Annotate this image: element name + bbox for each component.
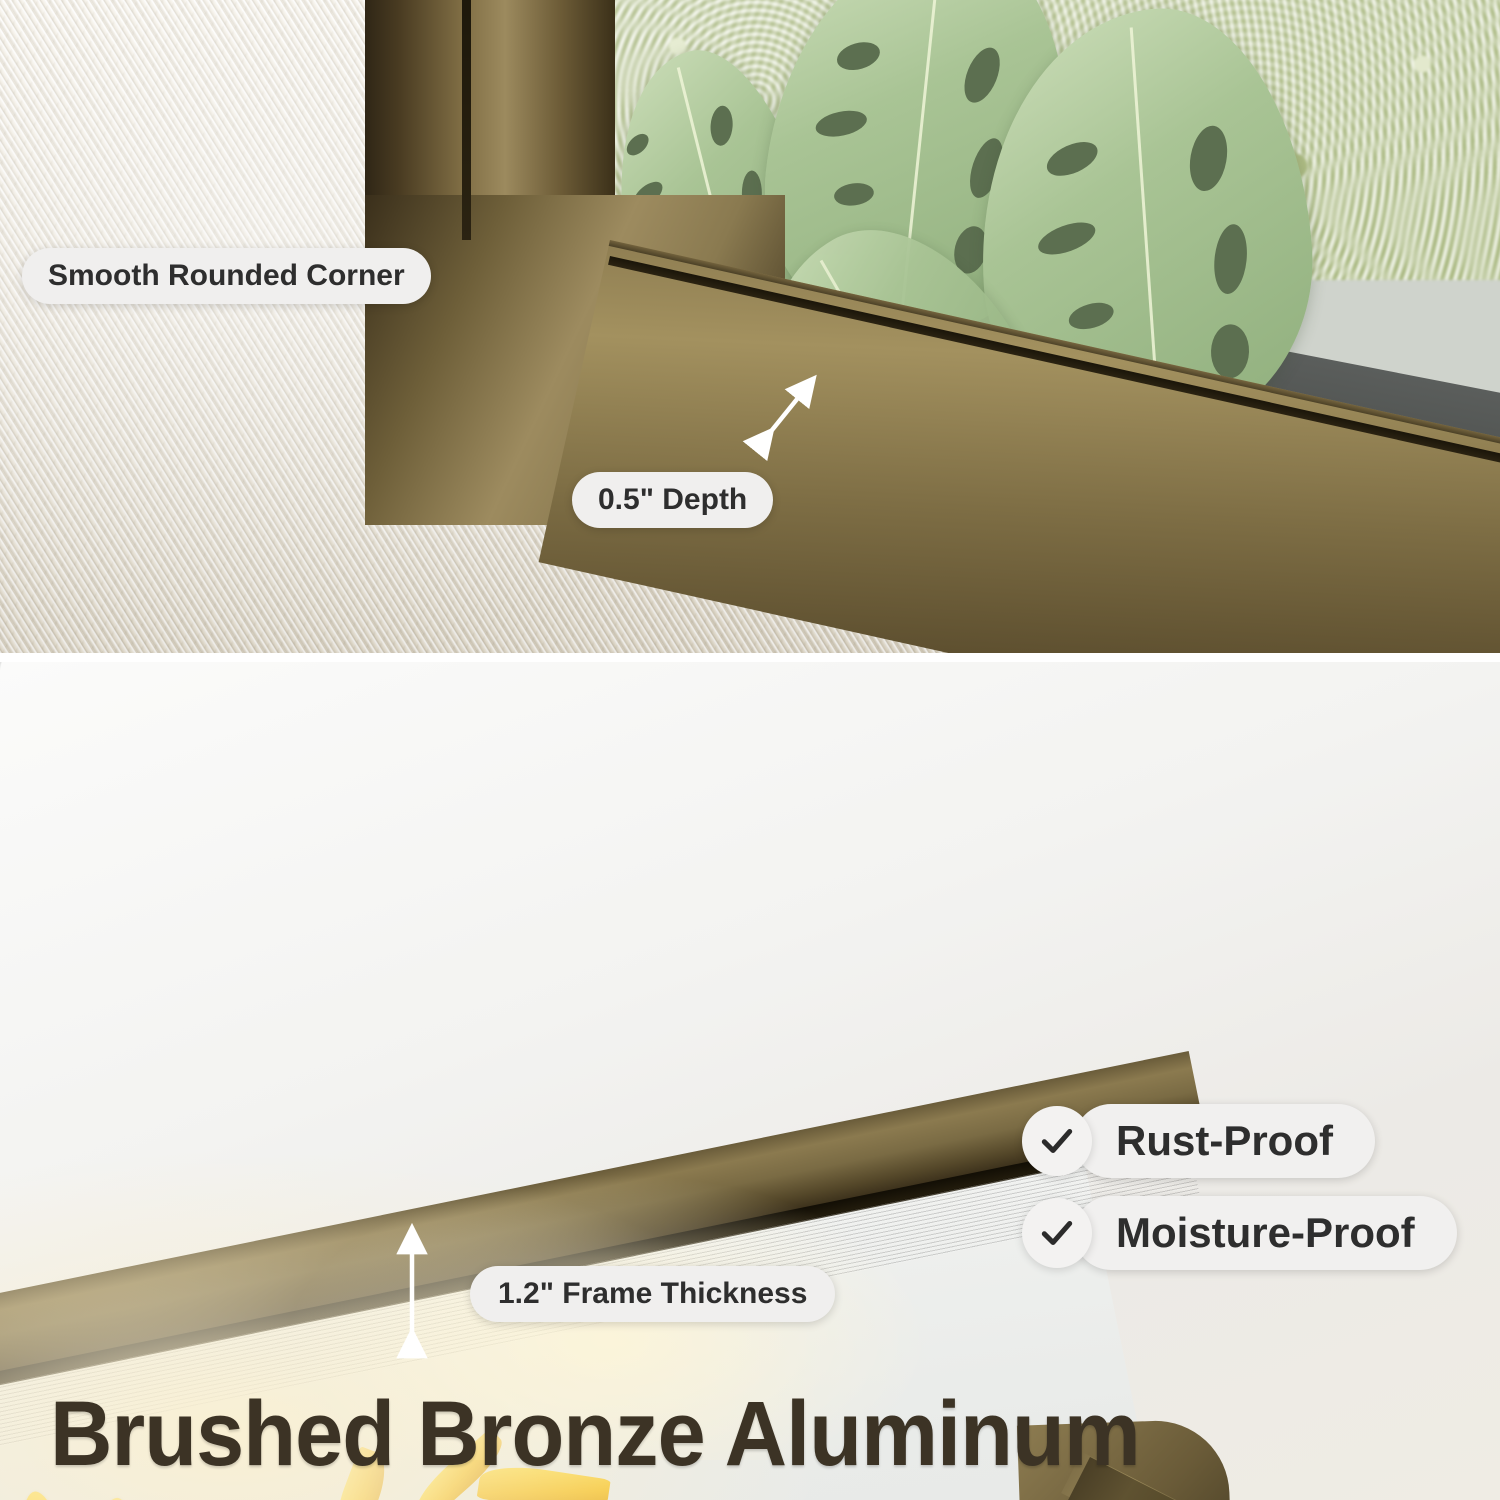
moisture-proof-label: Moisture-Proof bbox=[1116, 1209, 1415, 1257]
thickness-arrow bbox=[392, 1228, 432, 1358]
rust-proof-label: Rust-Proof bbox=[1116, 1117, 1333, 1165]
frame-horizontal-arm bbox=[539, 240, 1500, 653]
bottom-detail-panel bbox=[0, 662, 1500, 1500]
product-detail-image: Smooth Rounded Corner 0.5" Depth bbox=[0, 0, 1500, 1500]
panel-divider bbox=[0, 653, 1500, 662]
rust-proof-feature[interactable]: Rust-Proof bbox=[1022, 1104, 1375, 1178]
corner-callout-pill[interactable]: Smooth Rounded Corner bbox=[22, 248, 431, 304]
moisture-proof-pill[interactable]: Moisture-Proof bbox=[1074, 1196, 1457, 1270]
page-headline: Brushed Bronze Aluminum Alloy Frame bbox=[50, 1382, 1366, 1500]
check-icon bbox=[1022, 1198, 1092, 1268]
frame-groove bbox=[462, 0, 471, 240]
depth-callout-pill[interactable]: 0.5" Depth bbox=[572, 472, 773, 528]
thickness-callout-pill[interactable]: 1.2" Frame Thickness bbox=[470, 1266, 835, 1322]
thickness-callout-label: 1.2" Frame Thickness bbox=[498, 1277, 807, 1311]
top-detail-panel: Smooth Rounded Corner 0.5" Depth bbox=[0, 0, 1500, 653]
check-icon bbox=[1022, 1106, 1092, 1176]
rust-proof-pill[interactable]: Rust-Proof bbox=[1074, 1104, 1375, 1178]
depth-arrow bbox=[744, 370, 834, 460]
corner-callout-label: Smooth Rounded Corner bbox=[48, 259, 405, 293]
bronze-frame-top-panel bbox=[310, 0, 1500, 653]
depth-callout-label: 0.5" Depth bbox=[598, 483, 747, 517]
moisture-proof-feature[interactable]: Moisture-Proof bbox=[1022, 1196, 1457, 1270]
